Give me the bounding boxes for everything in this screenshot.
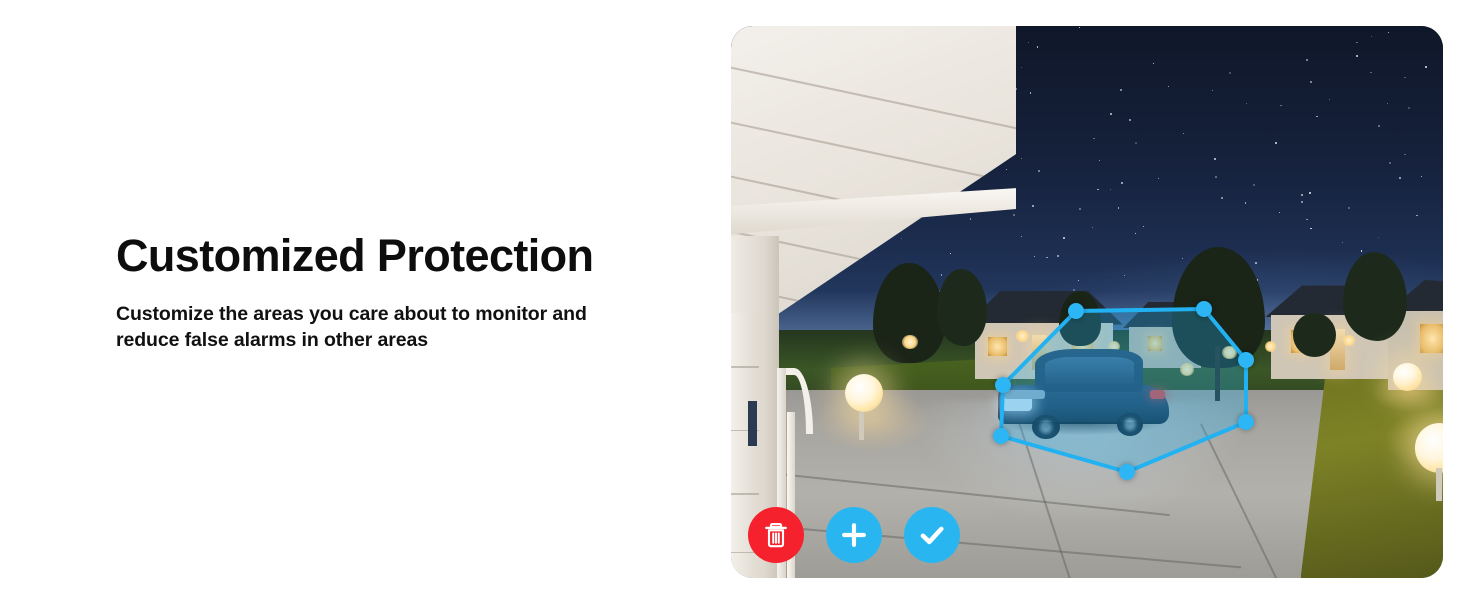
feature-banner: Customized Protection Customize the area…	[0, 0, 1464, 600]
detection-zone-polygon[interactable]	[1001, 309, 1246, 472]
zone-vertex-handle[interactable]	[1119, 464, 1135, 480]
camera-live-preview[interactable]	[731, 26, 1443, 578]
zone-vertex-handle[interactable]	[1196, 301, 1212, 317]
add-zone-button[interactable]	[826, 507, 882, 563]
zone-vertex-handle[interactable]	[1238, 414, 1254, 430]
zone-edit-toolbar	[748, 507, 960, 563]
check-icon	[916, 519, 948, 551]
zone-vertex-handle[interactable]	[995, 377, 1011, 393]
zone-vertex-handle[interactable]	[1238, 352, 1254, 368]
confirm-zone-button[interactable]	[904, 507, 960, 563]
trash-icon	[761, 520, 791, 550]
zone-vertex-handle[interactable]	[1068, 303, 1084, 319]
page-title: Customized Protection	[116, 232, 676, 280]
plus-icon	[838, 519, 870, 551]
page-subtitle: Customize the areas you care about to mo…	[116, 302, 651, 354]
zone-vertex-handle[interactable]	[993, 428, 1009, 444]
delete-zone-button[interactable]	[748, 507, 804, 563]
marketing-copy-block: Customized Protection Customize the area…	[116, 232, 676, 354]
scene-image	[731, 26, 1443, 578]
custom-detection-zone[interactable]	[731, 26, 1443, 578]
